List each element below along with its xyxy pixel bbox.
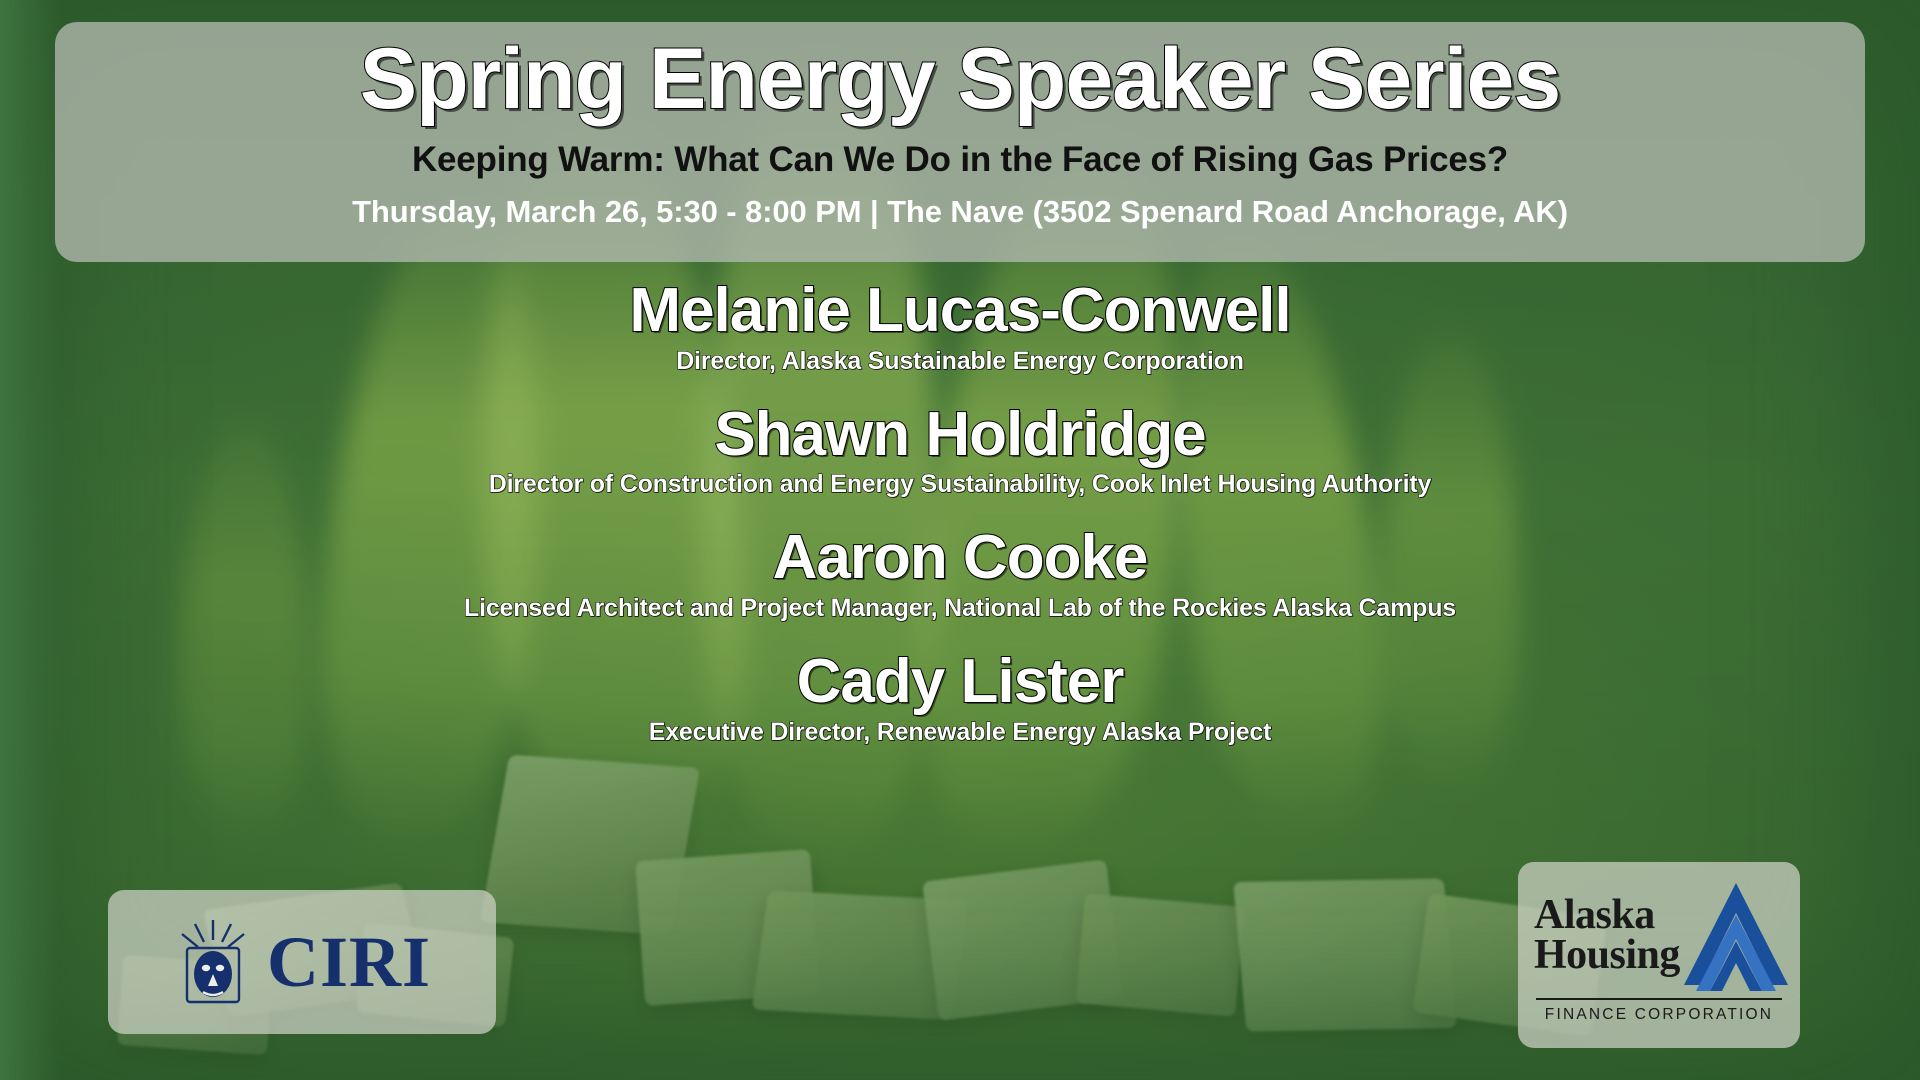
speaker-role: Director of Construction and Energy Sust… — [0, 470, 1920, 499]
event-details: Thursday, March 26, 5:30 - 8:00 PM | The… — [95, 194, 1825, 230]
speaker-role: Licensed Architect and Project Manager, … — [0, 594, 1920, 623]
ahfc-line-alaska: Alaska — [1534, 895, 1680, 935]
event-poster: Spring Energy Speaker Series Keeping War… — [0, 0, 1920, 1080]
ahfc-logo: Alaska Housing FINANCE CORPORATION — [1518, 862, 1800, 1048]
speaker-entry: Cady Lister Executive Director, Renewabl… — [0, 649, 1920, 747]
header-banner: Spring Energy Speaker Series Keeping War… — [55, 22, 1865, 262]
speaker-name: Shawn Holdridge — [0, 402, 1920, 468]
speaker-role: Executive Director, Renewable Energy Ala… — [0, 718, 1920, 747]
ahfc-subtitle: FINANCE CORPORATION — [1534, 1006, 1784, 1024]
ahfc-divider — [1536, 998, 1782, 1000]
ciri-logo: CIRI — [108, 890, 496, 1034]
speaker-role: Director, Alaska Sustainable Energy Corp… — [0, 347, 1920, 376]
page-title: Spring Energy Speaker Series — [95, 36, 1825, 124]
ahfc-line-housing: Housing — [1534, 935, 1680, 975]
speaker-entry: Melanie Lucas-Conwell Director, Alaska S… — [0, 278, 1920, 376]
event-subtitle: Keeping Warm: What Can We Do in the Face… — [95, 140, 1825, 180]
speaker-entry: Aaron Cooke Licensed Architect and Proje… — [0, 525, 1920, 623]
ciri-wordmark: CIRI — [267, 926, 431, 998]
speaker-list: Melanie Lucas-Conwell Director, Alaska S… — [0, 278, 1920, 773]
speaker-entry: Shawn Holdridge Director of Construction… — [0, 402, 1920, 500]
ciri-raven-mask-icon — [173, 918, 253, 1006]
speaker-name: Melanie Lucas-Conwell — [0, 278, 1920, 344]
ahfc-chevron-mountain-icon — [1680, 879, 1792, 991]
speaker-name: Aaron Cooke — [0, 525, 1920, 591]
speaker-name: Cady Lister — [0, 649, 1920, 715]
